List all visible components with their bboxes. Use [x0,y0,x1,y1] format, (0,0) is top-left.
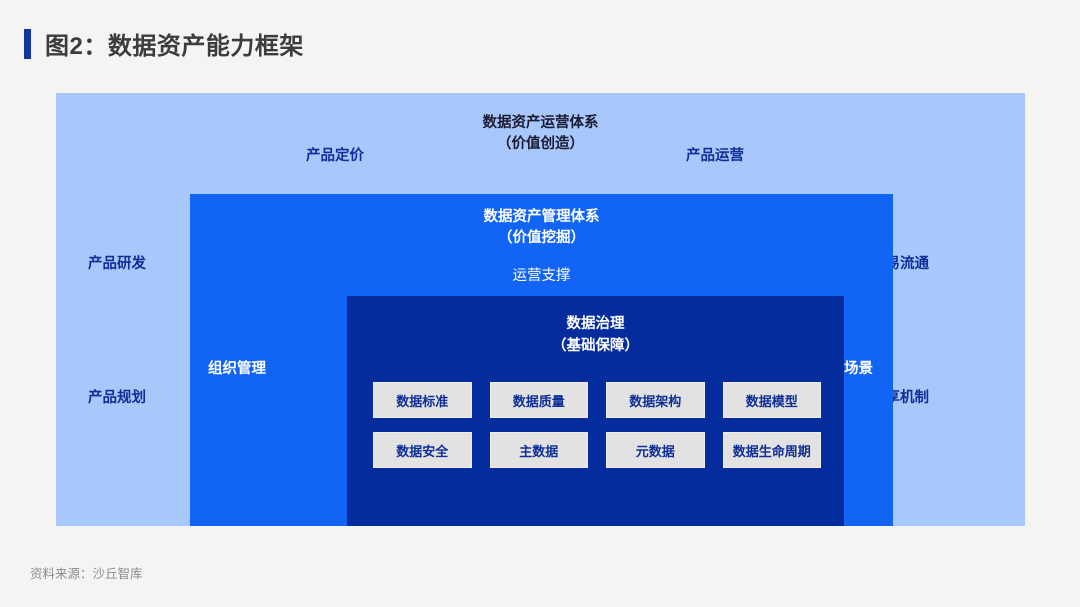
outer-layer-title: 数据资产运营体系 [56,113,1025,134]
chip-data-lifecycle[interactable]: 数据生命周期 [723,432,822,468]
middle-layer-heading: 数据资产管理体系 （价值挖掘） [190,207,893,249]
title-accent-bar [24,29,31,59]
core-layer-subtitle: （基础保障） [347,336,844,358]
chip-data-architecture[interactable]: 数据架构 [606,382,705,418]
source-note: 资料来源：沙丘智库 [30,563,143,582]
chip-data-standard[interactable]: 数据标准 [373,382,472,418]
chip-meta-data[interactable]: 元数据 [606,432,705,468]
chip-data-quality[interactable]: 数据质量 [490,382,589,418]
core-capability-chip-grid: 数据标准 数据质量 数据架构 数据模型 数据安全 主数据 元数据 数据生命周期 [373,382,821,468]
chip-data-model[interactable]: 数据模型 [723,382,822,418]
page-title-row: 图2：数据资产能力框架 [24,26,304,61]
middle-layer-title: 数据资产管理体系 [190,207,893,228]
middle-label-org-management: 组织管理 [208,357,266,378]
diagram-core-layer: 数据治理 （基础保障） 数据标准 数据质量 数据架构 数据模型 数据安全 主数据… [347,296,844,526]
middle-layer-support-label: 运营支撑 [190,264,893,285]
outer-label-product-operation: 产品运营 [686,144,744,165]
chip-master-data[interactable]: 主数据 [490,432,589,468]
outer-layer-heading: 数据资产运营体系 （价值创造） [56,113,1025,155]
core-layer-title: 数据治理 [347,314,844,336]
outer-label-product-rd: 产品研发 [88,252,146,273]
core-layer-heading: 数据治理 （基础保障） [347,314,844,358]
page-title: 图2：数据资产能力框架 [45,26,304,61]
diagram-outer-layer: 数据资产运营体系 （价值创造） 产品定价 产品运营 产品研发 产品规划 交易流通… [56,93,1025,526]
middle-layer-subtitle: （价值挖掘） [190,228,893,249]
chip-data-security[interactable]: 数据安全 [373,432,472,468]
outer-label-product-pricing: 产品定价 [306,144,364,165]
diagram-middle-layer: 数据资产管理体系 （价值挖掘） 运营支撑 组织管理 业务场景 数据治理 （基础保… [190,194,893,526]
outer-layer-subtitle: （价值创造） [56,134,1025,155]
outer-label-product-planning: 产品规划 [88,386,146,407]
